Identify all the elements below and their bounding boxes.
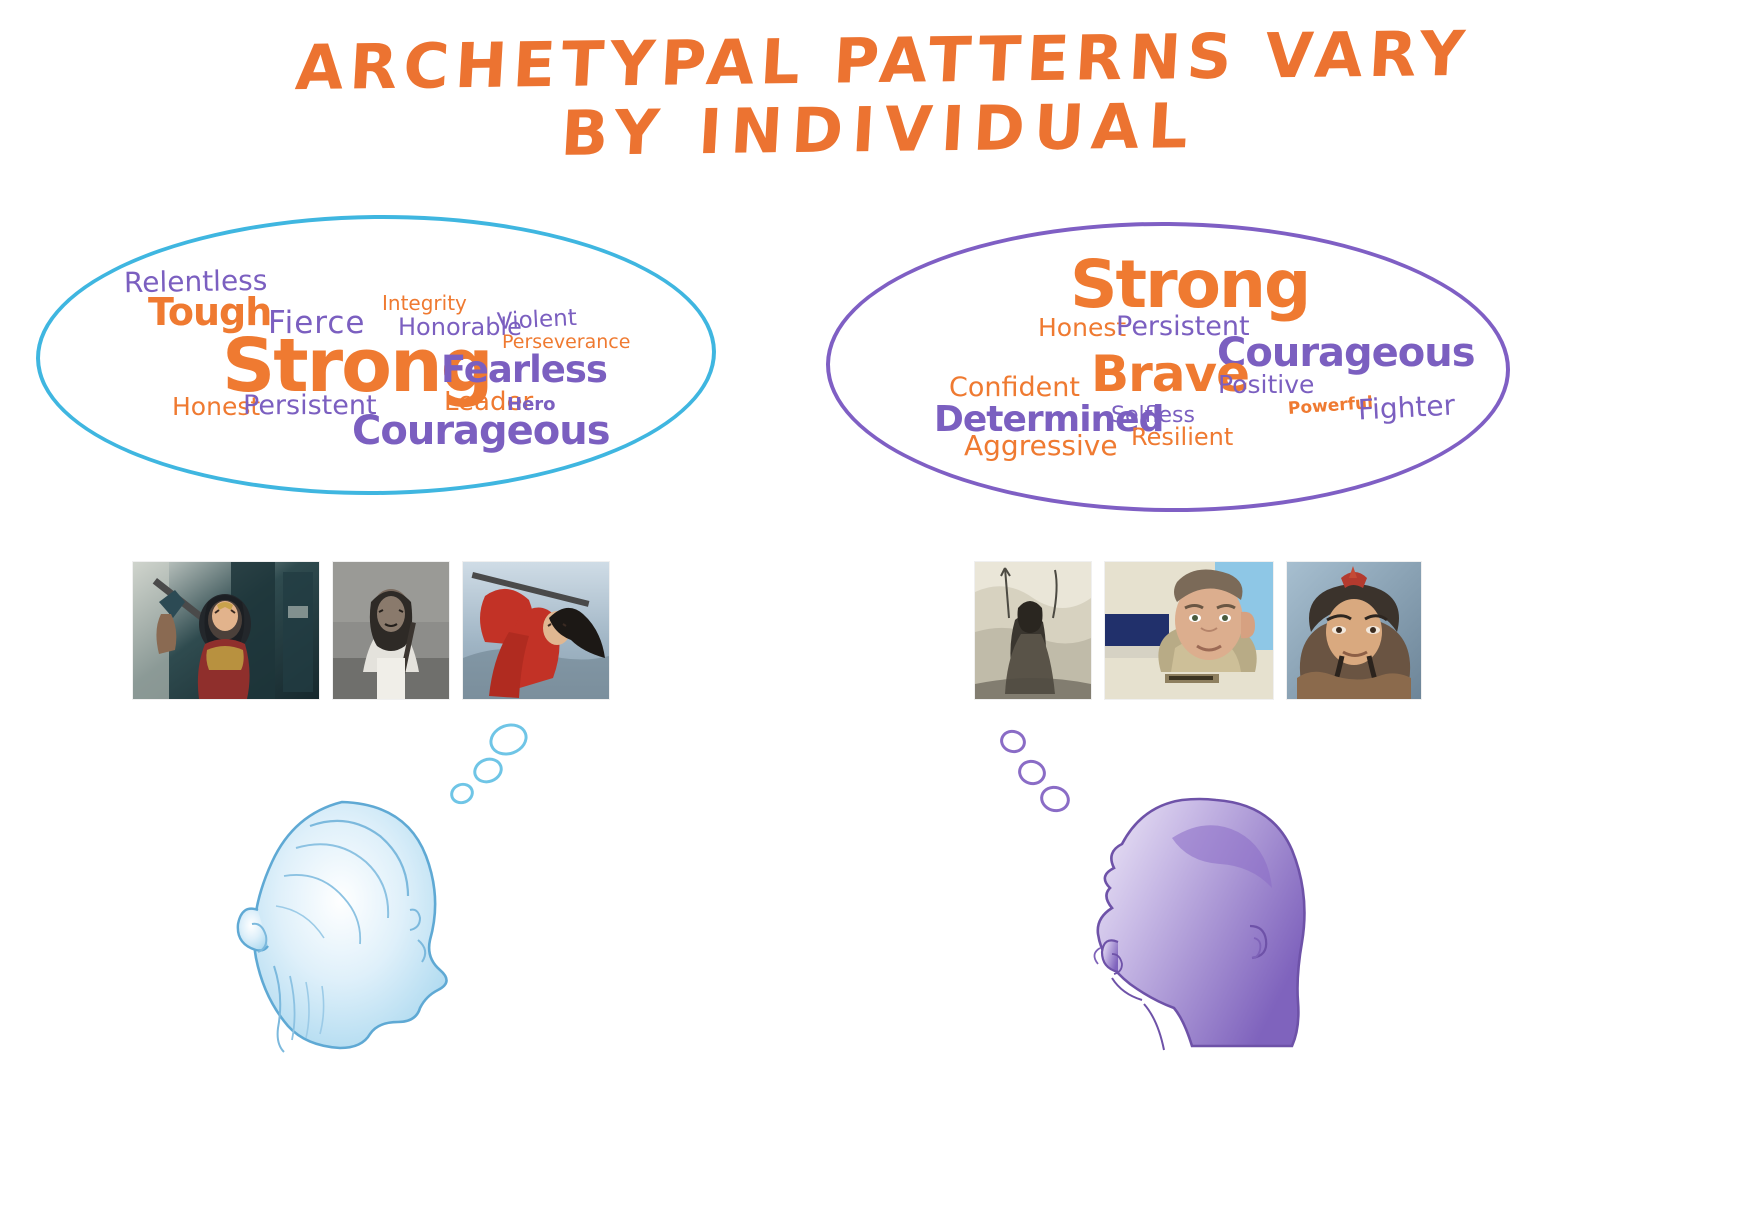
military-officer-portrait-photo [1105, 562, 1273, 699]
left-word-violent: Violent [496, 307, 577, 334]
page-title: ARCHETYPAL PATTERNS VARY BY INDIVIDUAL [0, 15, 1762, 175]
right-photo-strip [975, 562, 1421, 699]
page-title-line-1: ARCHETYPAL PATTERNS VARY [294, 17, 1473, 104]
right-word-positive: Positive [1218, 372, 1314, 397]
mongol-warrior-portrait-photo [1287, 562, 1421, 699]
engraving-of-warrior-with-sword-photo [975, 562, 1091, 699]
right-thought-bubble-medium [1015, 757, 1049, 789]
right-word-aggressive: Aggressive [964, 432, 1118, 460]
right-word-courageous: Courageous [1217, 333, 1475, 373]
right-photo-1 [975, 562, 1091, 699]
left-word-cloud: Relentless Tough Fierce Integrity Honora… [36, 215, 708, 487]
right-word-honest: Honest [1038, 315, 1126, 340]
left-thought-bubble-medium [470, 754, 507, 788]
right-word-strong: Strong [1070, 252, 1309, 318]
right-word-confident: Confident [949, 374, 1080, 401]
male-head-silhouette [1066, 790, 1336, 1060]
left-word-integrity: Integrity [382, 293, 467, 313]
right-word-resilient: Resilient [1131, 425, 1233, 449]
left-photo-2 [333, 562, 449, 699]
left-word-courageous: Courageous [352, 411, 610, 451]
right-photo-2 [1105, 562, 1273, 699]
left-thought-bubble-large [485, 718, 532, 760]
left-word-fearless: Fearless [441, 351, 607, 388]
page-title-line-2: BY INDIVIDUAL [0, 85, 1762, 176]
right-head-illustration [1066, 790, 1336, 1060]
right-thought-bubble-large [997, 727, 1028, 756]
woman-in-red-with-spear-photo [463, 562, 609, 699]
left-photo-3 [463, 562, 609, 699]
poster-canvas: ARCHETYPAL PATTERNS VARY BY INDIVIDUAL R… [0, 0, 1762, 1216]
left-photo-strip [133, 562, 609, 699]
right-word-cloud: Strong Honest Persistent Courageous Brav… [826, 222, 1502, 504]
right-photo-3 [1287, 562, 1421, 699]
right-word-fighter: Fighter [1357, 391, 1455, 424]
left-head-illustration [222, 790, 492, 1060]
left-photo-1 [133, 562, 319, 699]
female-head-silhouette [222, 790, 492, 1060]
historic-native-american-warrior-photo [333, 562, 449, 699]
warrior-woman-with-sword-photo [133, 562, 319, 699]
